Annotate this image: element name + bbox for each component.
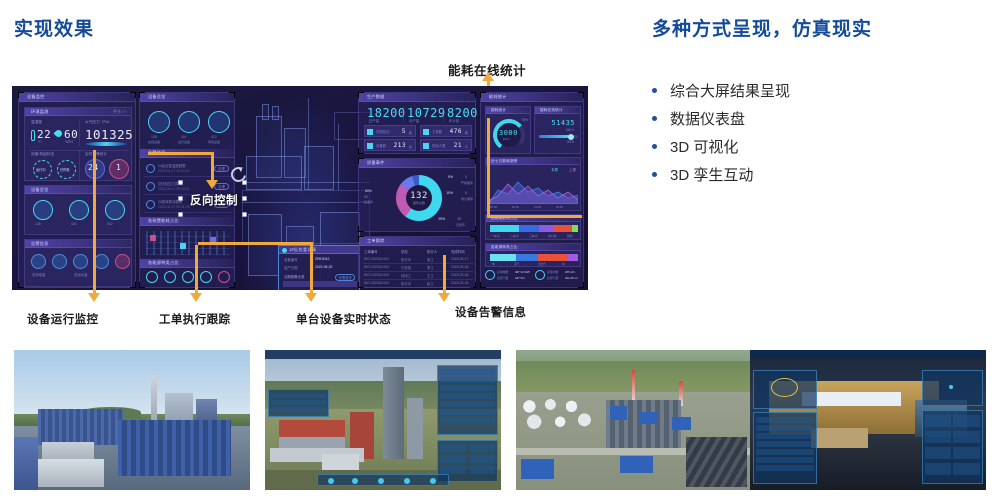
popup-field-key: 投产日期 — [284, 265, 298, 270]
divider — [403, 106, 404, 122]
connector-4-horizontal — [198, 242, 313, 245]
panel-title: 设备总览 — [148, 94, 166, 100]
corner-bracket-icon — [358, 158, 364, 164]
table-row — [756, 433, 814, 439]
subpanel-device-rings: 设备总览 128 116 012 — [24, 185, 132, 235]
connector-1-shaft-upper — [93, 150, 96, 176]
screenshot-plant-overview-3d[interactable] — [14, 350, 250, 490]
wireframe-pipe — [242, 182, 370, 183]
cell-who: 张工 — [427, 257, 434, 262]
selection-handle[interactable] — [178, 180, 183, 185]
gauge-unit: kW·h — [503, 137, 510, 141]
panel-energy-right: 能耗统计 能耗统计 3000 kW·h 75% — [480, 92, 584, 288]
indoor-topbar[interactable] — [750, 350, 986, 358]
overview-label: 运行设备 — [178, 140, 190, 144]
table-row[interactable]: WO-202304-002 已完成 李工 2023-04-16 — [363, 264, 473, 272]
overview-value: 128 — [151, 135, 157, 139]
alarm-action-button[interactable]: 处理 — [214, 165, 229, 172]
tile-icon — [423, 129, 429, 135]
legend-entry: 其他 — [567, 234, 573, 238]
metric-tile: 在制批次 5 批 — [364, 125, 416, 137]
panel-alarm-list: 设备总览 128 在线设备 116 运行设备 012 离线设备 告警信息 — [139, 92, 235, 288]
tile-label: 总用气量 — [547, 276, 558, 280]
callout-device-monitor: 设备运行监控 — [27, 311, 98, 327]
connector-2-vertical — [211, 152, 214, 182]
connector-3-shaft — [195, 245, 198, 295]
donut-center-label: 事件总数 — [413, 201, 425, 205]
tile-label: 在岗人数 — [432, 143, 446, 148]
popup-status-icon — [282, 248, 287, 253]
tile-label: 总蒸汽量 — [497, 276, 508, 280]
corner-bracket-icon — [358, 226, 364, 232]
panel-title: 能耗统计 — [489, 94, 507, 100]
subpanel-title: 近七日能耗趋势 — [491, 159, 518, 164]
corner-bracket-icon — [358, 92, 364, 98]
tile-unit: 台 — [409, 144, 412, 149]
stat-ring-icon — [105, 200, 125, 220]
menu-row[interactable] — [271, 407, 326, 412]
axis-tick: 00:00 — [490, 205, 497, 209]
connector-4-arrow-icon — [305, 293, 317, 302]
blue-unit — [672, 417, 691, 430]
bar-segment — [572, 225, 578, 232]
wireframe-block — [246, 156, 302, 190]
subpanel-header: 环境监测 更多>> — [25, 108, 131, 116]
stat-value: 128 — [35, 222, 41, 226]
panel-row — [440, 417, 495, 423]
alarm-time: 2023-04-17 09:44:31 — [158, 187, 189, 191]
selection-handle[interactable] — [242, 196, 247, 201]
table-row[interactable]: WO-202304-001 执行中 张工 2023-04-17 — [363, 256, 473, 264]
connector-2-arrow-icon — [206, 180, 218, 189]
corner-bracket-icon — [578, 92, 584, 98]
subpanel-header: 能耗在线统计 — [535, 107, 580, 114]
table-row[interactable]: WO-202304-004 执行中 赵工 2023-04-15 — [363, 280, 473, 288]
list-item: 数据仪表盘 — [652, 104, 982, 132]
nav-icon[interactable] — [430, 478, 436, 484]
footer-section-title: 各能源种类占比 — [148, 260, 179, 266]
table-row[interactable]: WO-202304-003 待派工 王工 2023-04-16 — [363, 272, 473, 280]
connector-5-shaft — [443, 255, 446, 295]
column-header: 工单编号 — [364, 249, 378, 254]
indoor-right-map-panel[interactable] — [922, 370, 983, 406]
alarm-icon — [146, 164, 155, 173]
unit-temperature: ℃ — [38, 140, 42, 144]
callout-workorder-tracking: 工单执行跟踪 — [159, 311, 230, 327]
tile-icon — [367, 143, 373, 149]
overview-label: 在线设备 — [148, 140, 160, 144]
more-link[interactable]: 更多>> — [113, 109, 127, 115]
legend-pct: 25% — [438, 217, 445, 221]
dashboard-screenshot: 设备监控 环境监测 更多>> 温湿度 22 ℃ — [12, 86, 588, 290]
kpi-tile — [440, 444, 466, 452]
legend-entry: 本周 — [551, 167, 558, 172]
preheater-tower — [383, 367, 404, 459]
donut-center: 132 事件总数 — [406, 185, 432, 211]
nav-icon[interactable] — [404, 478, 410, 484]
callout-device-alarm-info: 设备告警信息 — [455, 304, 526, 320]
subpanel-energy-gauge: 能耗统计 3000 kW·h 75% — [485, 106, 531, 154]
subpanel-header: 各能源种类占比 — [486, 244, 580, 251]
tile-icon-alert — [115, 254, 130, 269]
popup-more-button[interactable]: 查看更多 — [335, 274, 355, 281]
gauge-icon — [771, 378, 798, 397]
subpanel-header: 近七日能耗趋势 — [486, 158, 580, 165]
nav-icon[interactable] — [328, 478, 334, 484]
wireframe-pipe — [242, 202, 370, 203]
cell-state: 已完成 — [401, 265, 411, 270]
callout-device-realtime-status: 单台设备实时状态 — [296, 311, 391, 327]
bullet-dot-icon — [652, 116, 657, 121]
corner-bracket-icon — [18, 92, 24, 98]
list-item-label: 数据仪表盘 — [670, 108, 745, 129]
panel-header: 工单跟踪 — [359, 237, 475, 246]
tile-unit: 单 — [465, 130, 468, 135]
metric-tile: 在岗人数 21 人 — [420, 139, 472, 151]
label-temp-humidity: 温湿度 — [31, 120, 42, 125]
panel-title: 工单跟踪 — [367, 238, 385, 244]
list-item-label: 3D 可视化 — [670, 136, 738, 157]
panel-quality-events: 质量事件 132 事件总数 60% 80 一般事件 5% 5 严重事件 10% … — [358, 158, 476, 232]
pipe-rack — [38, 409, 123, 445]
divider — [79, 120, 80, 146]
connector-1-arrow-icon — [88, 293, 100, 302]
tile-unit: 人 — [465, 144, 468, 149]
corner-bracket-icon — [358, 236, 364, 242]
tile-icon — [423, 143, 429, 149]
trend-area-chart — [490, 174, 578, 204]
panel-header: 生产数据 — [359, 93, 475, 102]
table-row — [756, 441, 814, 447]
lower-section-title: 各装置能耗占比 — [148, 218, 179, 224]
alarm-time: 2023-04-17 09:21:05 — [158, 205, 189, 209]
menu-row[interactable] — [271, 400, 326, 405]
connector-5-arrow-icon — [438, 293, 450, 302]
list-item-label: 3D 孪生互动 — [670, 164, 753, 185]
screenshot-indoor-twin-interactive[interactable] — [750, 350, 986, 490]
cell-id: WO-202304-003 — [364, 273, 389, 277]
list-item-label: 综合大屏结果呈现 — [670, 80, 790, 101]
donut-center-value: 132 — [410, 191, 428, 201]
camera-tile[interactable] — [925, 463, 952, 475]
right-tiles-group: 总用电量 总蒸汽量 487.32 kWh 187.54 t 总用水量 总用气量 … — [485, 270, 581, 287]
kpi-tile — [440, 466, 466, 474]
camera-tile[interactable] — [925, 415, 952, 427]
nav-icon[interactable] — [378, 478, 384, 484]
camera-tile[interactable] — [925, 431, 952, 443]
tile-value: 265.10 t — [565, 270, 575, 274]
tile-icon — [94, 254, 109, 269]
label-device-state: 设备/机组状态 — [31, 152, 54, 157]
subpanel-title: 各能源种类占比 — [491, 245, 518, 250]
bullet-dot-icon — [652, 144, 657, 149]
column-header: 完成时间 — [451, 249, 465, 254]
schematic-node — [180, 243, 186, 249]
cell-who: 王工 — [427, 273, 434, 278]
overview-ring-icon — [148, 111, 170, 133]
page-title-right: 多种方式呈现，仿真现实 — [652, 14, 872, 41]
panel-row — [440, 369, 495, 375]
progress-fill — [539, 135, 570, 138]
overview-label: 离线设备 — [208, 140, 220, 144]
camera-tile[interactable] — [925, 447, 952, 459]
cell-id: WO-202304-001 — [364, 257, 389, 261]
corner-bracket-icon — [470, 158, 476, 164]
footer-icon — [182, 271, 194, 283]
selection-handle[interactable] — [242, 212, 247, 217]
popup-section-a-title: 近期报警记录 — [284, 274, 304, 279]
skylight — [802, 392, 901, 406]
wireframe-pipe — [308, 98, 309, 190]
overlay-label-reverse-control: 反向控制 — [190, 192, 238, 208]
legend-count: 8 — [465, 191, 467, 195]
feature-bullet-list: 综合大屏结果呈现 数据仪表盘 3D 可视化 3D 孪生互动 — [652, 76, 982, 188]
alarm-icon — [146, 182, 155, 191]
alarm-icon — [146, 200, 155, 209]
legend-entry: 蒸汽 — [514, 262, 520, 266]
subpanel-title: 环境监测 — [31, 109, 49, 115]
wireframe-stack — [262, 104, 269, 120]
subpanel-device-tiles: 告警信息 总用电量 总用水量 — [24, 239, 132, 287]
value-alarm-urgent: 1 — [116, 163, 121, 172]
subpanel-header: 能耗统计 — [486, 107, 530, 114]
cell-time: 2023-04-16 — [451, 265, 468, 269]
legend-entry: 三车间 — [529, 234, 537, 238]
connector-6-horizontal — [487, 215, 582, 218]
alarm-name: 1#反应釜温度超限 — [158, 163, 186, 168]
legend-pct: 10% — [446, 191, 453, 195]
cell-state: 执行中 — [401, 281, 411, 286]
bar-segment — [490, 225, 519, 232]
column-header: 状态 — [401, 249, 408, 254]
footer-icon — [164, 271, 176, 283]
legend-pct: 60% — [365, 189, 372, 193]
divider — [79, 150, 80, 180]
legend-entry: 水 — [562, 262, 565, 266]
bar-segment — [490, 254, 516, 261]
kpi-tile — [469, 444, 495, 452]
legend-entry: 上周 — [569, 167, 576, 172]
schematic-node — [150, 235, 156, 241]
panel-row — [440, 409, 495, 415]
bar-segment — [553, 225, 573, 232]
tile-icon — [535, 270, 545, 280]
connector-4-vertical — [310, 242, 313, 295]
bar-segment — [539, 225, 553, 232]
office-building — [322, 454, 360, 471]
nav-icon[interactable] — [352, 478, 358, 484]
silo — [407, 398, 424, 460]
table-row[interactable]: 1#反应釜温度超限 2023-04-17 10:02:18 处理 — [144, 161, 232, 177]
panel-row — [440, 401, 495, 407]
cell-who: 李工 — [427, 265, 434, 270]
selection-handle[interactable] — [242, 180, 247, 185]
ring-running-label: 运行中 — [36, 167, 46, 172]
alarm-time: 2023-04-17 10:02:18 — [158, 169, 189, 173]
metric-tile: 工单数 476 单 — [420, 125, 472, 137]
camera-tile[interactable] — [953, 431, 980, 443]
stacked-bar — [490, 225, 578, 232]
twin-left-menu[interactable] — [268, 389, 329, 417]
panel-row — [440, 393, 495, 399]
lower-section-header: 各装置能耗占比 — [140, 217, 234, 226]
tile-icon — [485, 270, 495, 280]
column-header: 执行人 — [427, 249, 437, 254]
storage-tank-farm — [518, 392, 598, 440]
tile-value: 321.06 m³ — [565, 276, 578, 280]
legend-label: 重大事件 — [461, 197, 473, 201]
stat-value: 116 — [71, 222, 76, 226]
loading-ramp — [811, 428, 868, 448]
subpanel-title: 设备总览 — [31, 187, 49, 193]
selection-handle[interactable] — [178, 212, 183, 217]
process-units — [118, 420, 231, 476]
panel-title: 生产数据 — [367, 94, 385, 100]
popup-table-row — [283, 287, 357, 290]
indoor-right-camera-grid[interactable] — [922, 410, 983, 484]
bullet-dot-icon — [652, 172, 657, 177]
stat-ring-icon — [69, 200, 89, 220]
camera-tile[interactable] — [953, 415, 980, 427]
thermometer-icon — [31, 130, 35, 141]
corner-bracket-icon — [470, 92, 476, 98]
progress-value: 51435 — [551, 119, 575, 127]
legend-entry: 电 — [492, 262, 495, 266]
connector-2-horizontal — [148, 152, 214, 155]
subpanel-title: 能耗在线统计 — [540, 108, 563, 113]
tile-label: 设备数 — [376, 143, 386, 148]
legend-count: 38 — [457, 217, 461, 221]
table-row — [756, 465, 814, 471]
cell-time: 2023-04-17 — [451, 257, 468, 261]
overview-value: 012 — [211, 135, 217, 139]
tile-value: 487.32 kWh — [515, 270, 530, 274]
popup-header: 1#反应釜详情 — [279, 246, 359, 254]
blue-unit — [639, 412, 658, 425]
cell-who: 赵工 — [427, 281, 434, 286]
corner-bracket-icon — [229, 282, 235, 288]
tile-label: 总用电量 — [497, 270, 508, 274]
kpi-tile — [440, 455, 466, 463]
menu-row[interactable] — [271, 393, 326, 398]
corner-bracket-icon — [480, 92, 486, 98]
bar-segment — [516, 254, 538, 261]
side-structure — [14, 437, 38, 490]
wireframe-stack — [272, 106, 279, 120]
value-pressure: 101325 — [85, 127, 133, 142]
conveyor-area — [686, 437, 747, 487]
screenshot-digital-twin-factory[interactable] — [265, 350, 501, 490]
table-row — [756, 425, 814, 431]
tile-icon — [52, 254, 67, 269]
tile-label: 总用水量 — [74, 272, 88, 277]
kpi-tile — [469, 466, 495, 474]
panel-header: 质量事件 — [359, 159, 475, 168]
table-row — [756, 417, 814, 423]
pressure-indicator-bar — [85, 142, 127, 146]
overview-value: 116 — [181, 135, 186, 139]
device-detail-popup[interactable]: 1#反应釜详情 设备编号 ZRK0042 投产日期 2022-08-20 近期报… — [278, 245, 360, 290]
axis-tick: 18:00 — [556, 205, 563, 209]
bar-segment — [519, 225, 539, 232]
legend-label: 已闭环 — [456, 223, 465, 227]
tile-value: 476 — [450, 128, 462, 135]
panel-title: 设备监控 — [27, 94, 45, 100]
bar-segment — [568, 254, 578, 261]
overview-ring-icon — [178, 111, 200, 133]
screenshot-refinery-aerial-3d[interactable] — [516, 350, 752, 490]
footer-icon-alert — [218, 271, 230, 283]
subpanel-environment: 环境监测 更多>> 温湿度 22 ℃ 60 %RH 大气压力（Pa） 10132… — [24, 107, 132, 181]
corner-bracket-icon — [139, 92, 145, 98]
legend-pct: 5% — [448, 175, 453, 179]
panel-header: 能耗统计 — [481, 93, 583, 102]
metric-tile: 设备数 213 台 — [364, 139, 416, 151]
legend-label: 一般事件 — [361, 200, 373, 204]
footer-icon — [200, 271, 212, 283]
indoor-left-table-panel[interactable] — [753, 412, 817, 485]
subpanel-energy-trend: 近七日能耗趋势 本周 上周 00:00 06:00 12:00 18:00 — [485, 157, 581, 211]
cell-id: WO-202304-004 — [364, 281, 389, 285]
popup-field-value: ZRK0042 — [315, 257, 329, 261]
stat-ring-icon — [33, 200, 53, 220]
stacked-bar — [490, 254, 578, 261]
twin-bottom-nav[interactable] — [317, 474, 449, 486]
panel-header: 设备总览 — [140, 93, 234, 102]
tile-value: 213 — [394, 142, 406, 149]
tile-value: 5 — [402, 128, 406, 135]
subpanel-header: 设备总览 — [25, 186, 131, 194]
indoor-left-gauge-panel[interactable] — [753, 370, 817, 409]
subpanel-ratio-b: 各能源种类占比 电 蒸汽 天然气 水 — [485, 243, 581, 267]
panel-production: 生产数据 18200 日产量 10729 月产量 8200 年计划 在制批次 5 — [358, 92, 476, 154]
map-marker-icon — [949, 385, 953, 389]
footer-section-header: 各能源种类占比 — [140, 259, 234, 268]
label-pressure: 大气压力（Pa） — [85, 120, 112, 125]
tile-label: 工单数 — [432, 129, 442, 134]
overview-ring-icon — [208, 111, 230, 133]
cell-state: 待派工 — [401, 273, 411, 278]
camera-tile[interactable] — [953, 447, 980, 459]
axis-tick: 12:00 — [534, 205, 541, 209]
selection-handle[interactable] — [178, 196, 183, 201]
metric-label: 年计划 — [449, 118, 459, 123]
twin-topbar[interactable] — [265, 350, 501, 359]
stat-value: 012 — [107, 222, 113, 226]
twin-right-panel[interactable] — [437, 365, 498, 435]
metric-label: 日产量 — [369, 118, 379, 123]
camera-tile[interactable] — [953, 463, 980, 475]
page-title-left: 实现效果 — [14, 14, 94, 41]
progress-knob[interactable] — [568, 134, 574, 140]
table-row — [756, 449, 814, 455]
table-row — [756, 457, 814, 463]
subpanel-title: 告警信息 — [31, 241, 49, 247]
wireframe-block — [248, 214, 282, 276]
legend-entry: 动力站 — [548, 234, 556, 238]
tile-label: 总用电量 — [32, 272, 46, 277]
legend-entry: 二车间 — [510, 234, 518, 238]
tile-icon — [31, 254, 46, 269]
ring-stopped-label: 已停机 — [60, 167, 70, 172]
subpanel-title: 能耗统计 — [491, 108, 506, 113]
tile-icon — [367, 129, 373, 135]
corner-bracket-icon — [470, 226, 476, 232]
panel-title: 质量事件 — [367, 160, 385, 166]
list-item: 综合大屏结果呈现 — [652, 76, 982, 104]
tile-label: 总用水量 — [547, 270, 558, 274]
progress-percent: 81% — [567, 140, 574, 144]
